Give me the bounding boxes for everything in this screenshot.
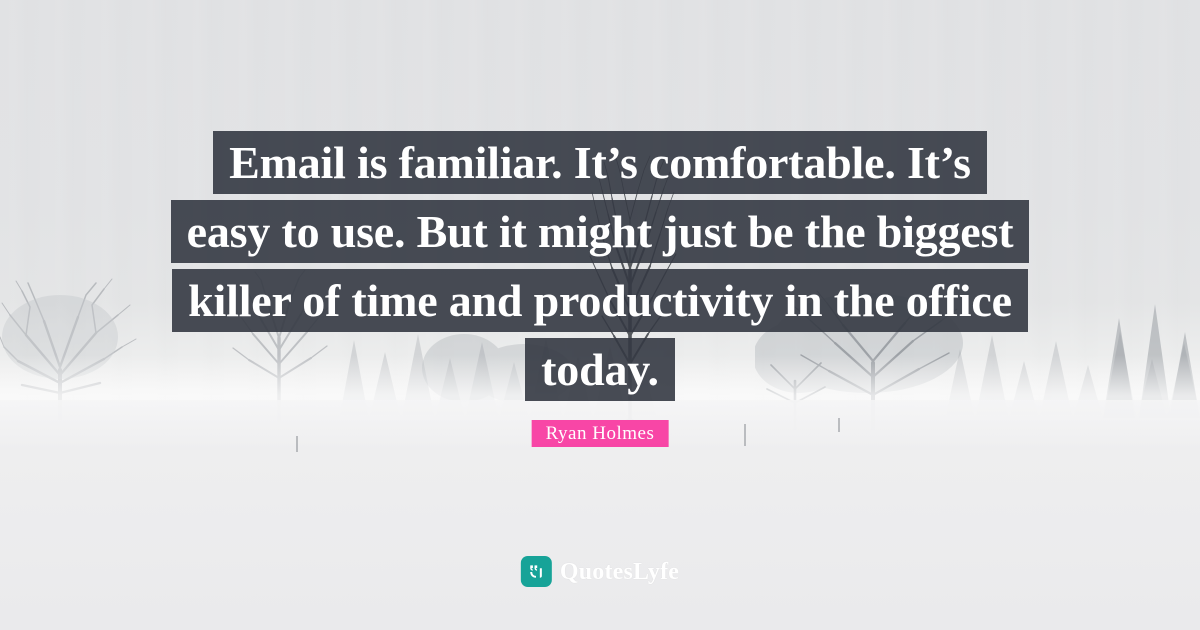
- quote-line-3: killer of time and productivity in the o…: [172, 269, 1028, 332]
- quote-smiley-icon: [521, 556, 552, 587]
- quote-card: Email is familiar. It’s comfortable. It’…: [0, 0, 1200, 630]
- snow-post-left: [296, 436, 298, 452]
- quote-text-block: Email is familiar. It’s comfortable. It’…: [0, 131, 1200, 401]
- snow-post-center: [744, 424, 746, 446]
- quote-line-1: Email is familiar. It’s comfortable. It’…: [213, 131, 987, 194]
- author-badge: Ryan Holmes: [532, 420, 669, 447]
- brand-watermark[interactable]: QuotesLyfe: [521, 556, 679, 587]
- brand-name: QuotesLyfe: [560, 560, 679, 584]
- snow-post-right: [838, 418, 840, 432]
- quote-line-2: easy to use. But it might just be the bi…: [171, 200, 1030, 263]
- quote-line-4: today.: [525, 338, 675, 401]
